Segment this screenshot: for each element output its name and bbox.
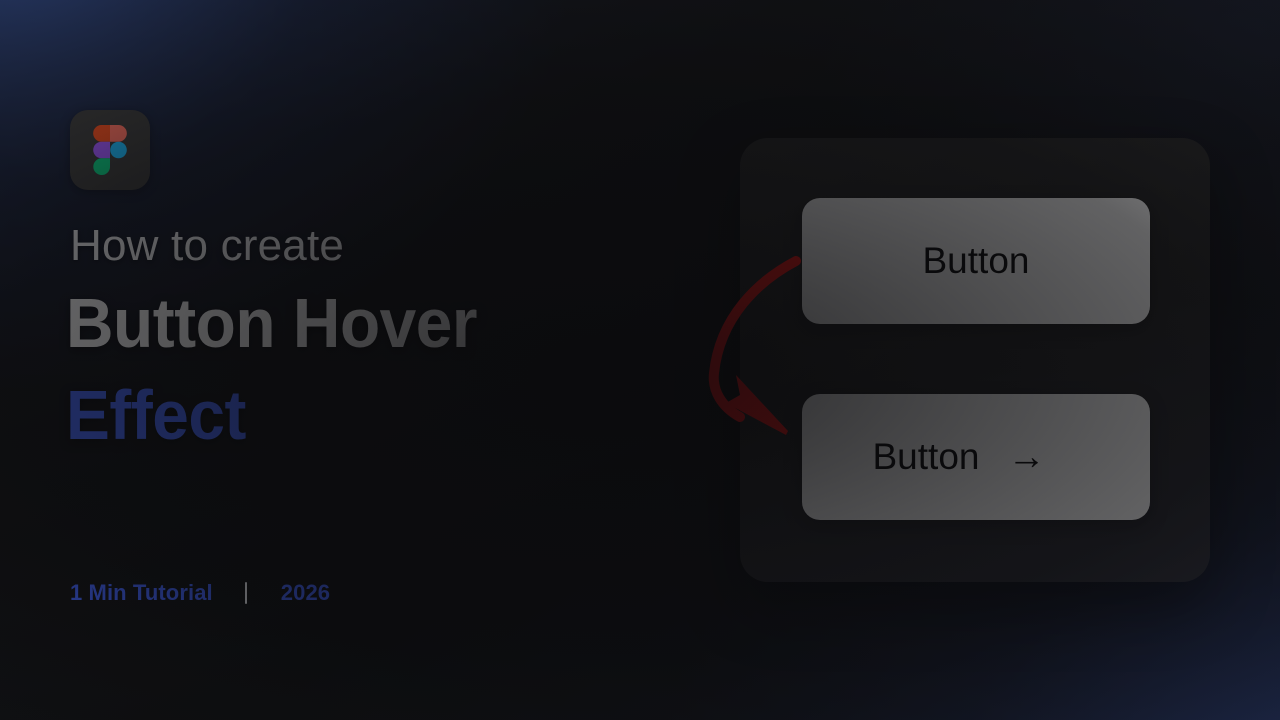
tutorial-year-label: 2026 (281, 580, 330, 606)
hero-text-column: How to create Button Hover Effect 1 Min … (70, 0, 710, 720)
button-demo-panel: Button Button → (740, 138, 1210, 582)
demo-button-hover[interactable]: Button → (802, 394, 1150, 520)
figma-logo-icon (93, 125, 127, 175)
page-title-accent: Effect (66, 380, 246, 450)
arrow-right-icon: → (1007, 438, 1045, 476)
meta-separator (245, 582, 247, 604)
figma-logo-tile (70, 110, 150, 190)
hero-eyebrow: How to create (70, 224, 344, 268)
demo-button-hover-label: Button (873, 436, 980, 478)
thumbnail-canvas: How to create Button Hover Effect 1 Min … (0, 0, 1280, 720)
demo-button-default[interactable]: Button (802, 198, 1150, 324)
demo-button-default-label: Button (923, 240, 1030, 282)
tutorial-duration-label: 1 Min Tutorial (70, 580, 213, 606)
footer-meta: 1 Min Tutorial 2026 (70, 580, 330, 606)
page-title: Button Hover (66, 288, 477, 358)
